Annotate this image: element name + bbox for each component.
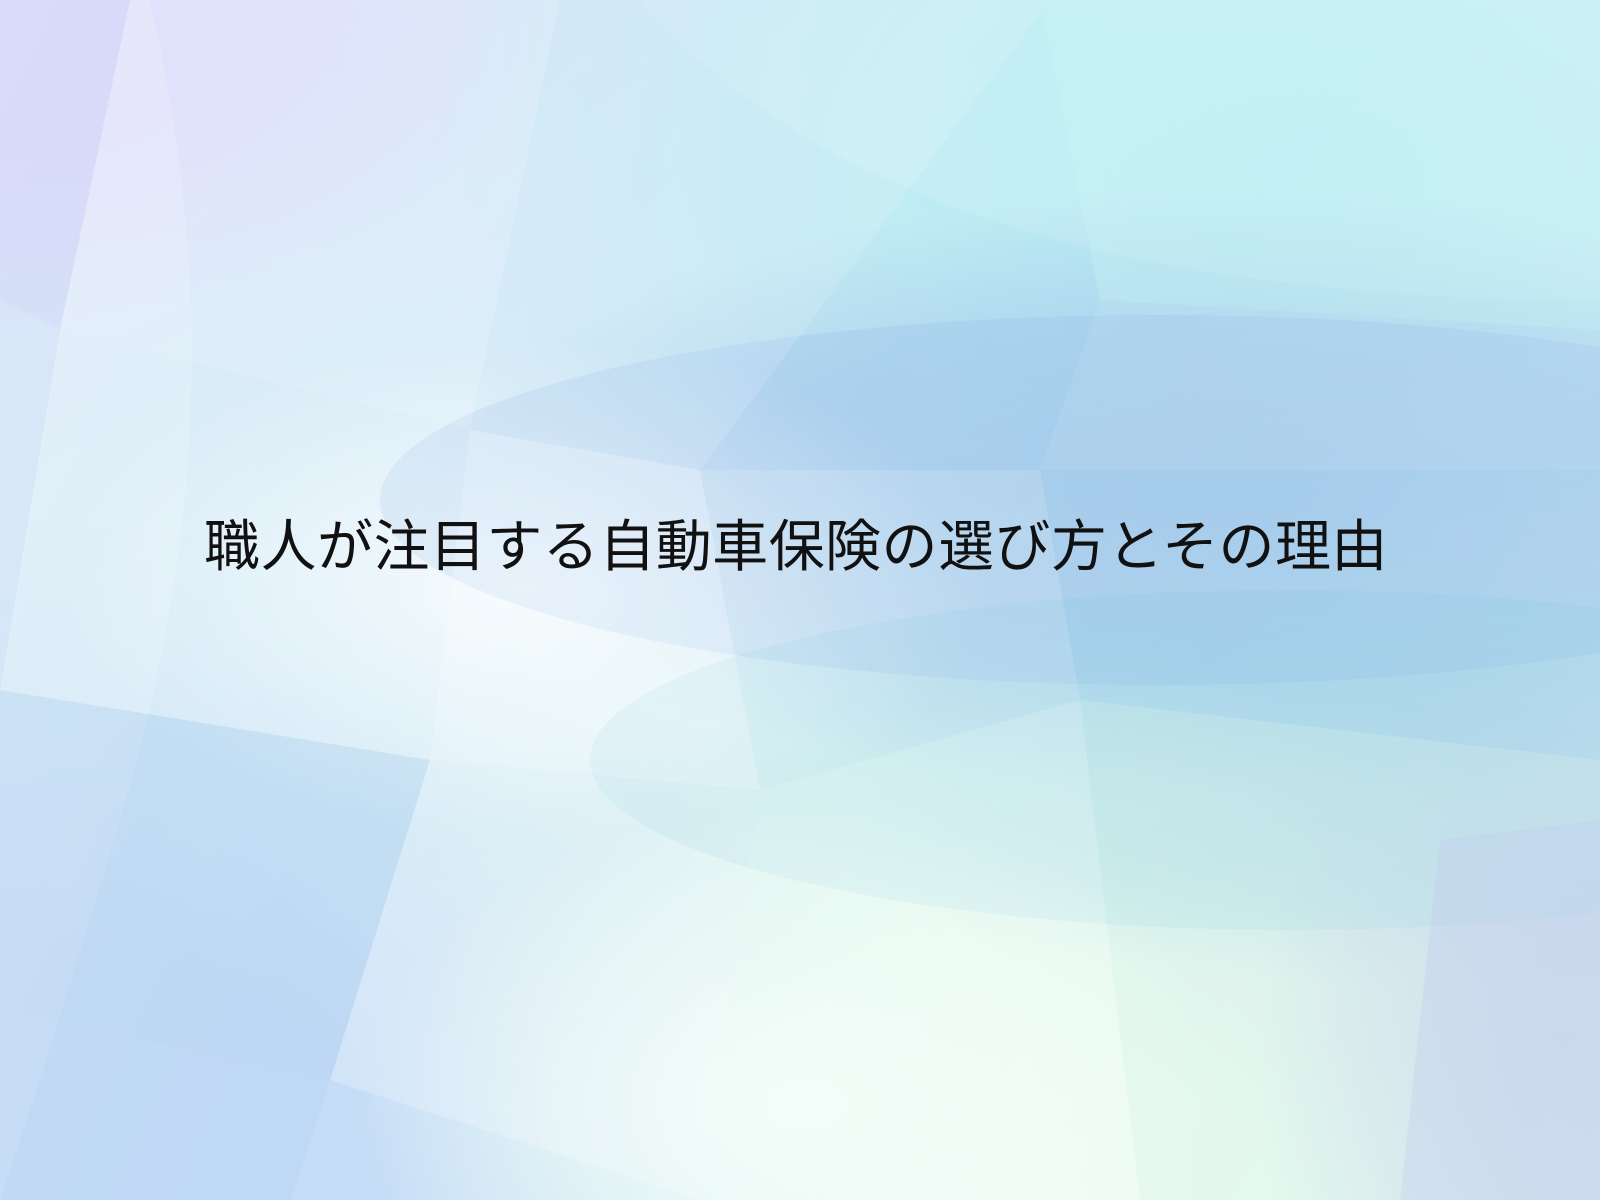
background-soften-overlay	[0, 0, 1600, 1200]
background-blue-lens-shape-secondary	[0, 0, 1600, 1200]
background-angular-facets	[0, 0, 1600, 1200]
title-block: 職人が注目する自動車保険の選び方とその理由	[0, 516, 1600, 579]
background-base-gradient	[0, 0, 1600, 1200]
background-mint-glow	[0, 0, 1600, 1200]
background-lavender-right	[0, 0, 1600, 1200]
background-cyan-mass	[0, 0, 1600, 1200]
background-white-glow	[0, 0, 1600, 1200]
slide-title: 職人が注目する自動車保険の選び方とその理由	[204, 516, 1388, 579]
presentation-slide: 職人が注目する自動車保険の選び方とその理由	[0, 0, 1600, 1200]
background-blue-lens-shape	[0, 0, 1600, 1200]
